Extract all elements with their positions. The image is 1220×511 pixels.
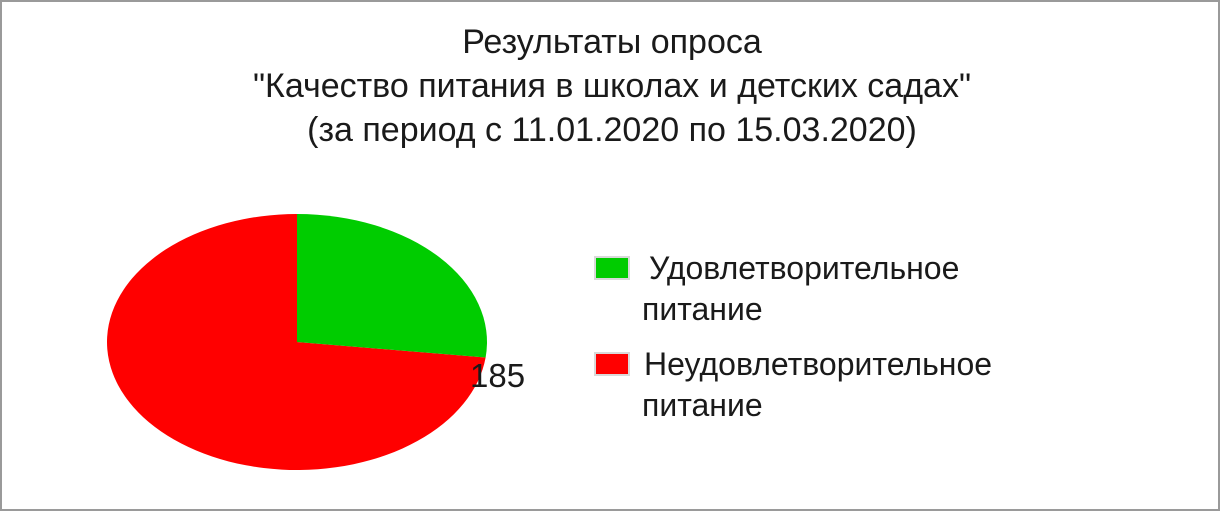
legend-item-satisfactory[interactable]: Удовлетворительное питание bbox=[592, 248, 1214, 330]
legend-swatch-green-icon bbox=[594, 256, 630, 280]
data-label-satisfactory: 185 bbox=[470, 358, 525, 394]
chart-title: Результаты опроса "Качество питания в шк… bbox=[42, 20, 1182, 152]
legend-label-unsatisfactory-line-2: питание bbox=[592, 385, 1214, 426]
chart-canvas: Результаты опроса "Качество питания в шк… bbox=[0, 0, 1220, 511]
chart-title-line-2: "Качество питания в школах и детских сад… bbox=[42, 64, 1182, 108]
chart-legend: Удовлетворительное питание Неудовлетвори… bbox=[592, 248, 1214, 440]
pie-slice-satisfactory[interactable] bbox=[297, 214, 487, 357]
legend-label-unsatisfactory: Неудовлетворительное питание bbox=[592, 344, 1214, 426]
chart-title-line-1: Результаты опроса bbox=[42, 20, 1182, 64]
pie-chart bbox=[2, 162, 562, 511]
legend-label-unsatisfactory-line-1: Неудовлетворительное bbox=[592, 344, 1214, 385]
legend-swatch-red-icon bbox=[594, 352, 630, 376]
plot-area: 185 502 bbox=[2, 162, 562, 511]
chart-title-line-3: (за период с 11.01.2020 по 15.03.2020) bbox=[42, 108, 1182, 152]
legend-label-satisfactory-line-2: питание bbox=[592, 289, 1214, 330]
legend-label-satisfactory: Удовлетворительное питание bbox=[592, 248, 1214, 330]
legend-label-satisfactory-line-1: Удовлетворительное bbox=[592, 248, 1214, 289]
legend-item-unsatisfactory[interactable]: Неудовлетворительное питание bbox=[592, 344, 1214, 426]
